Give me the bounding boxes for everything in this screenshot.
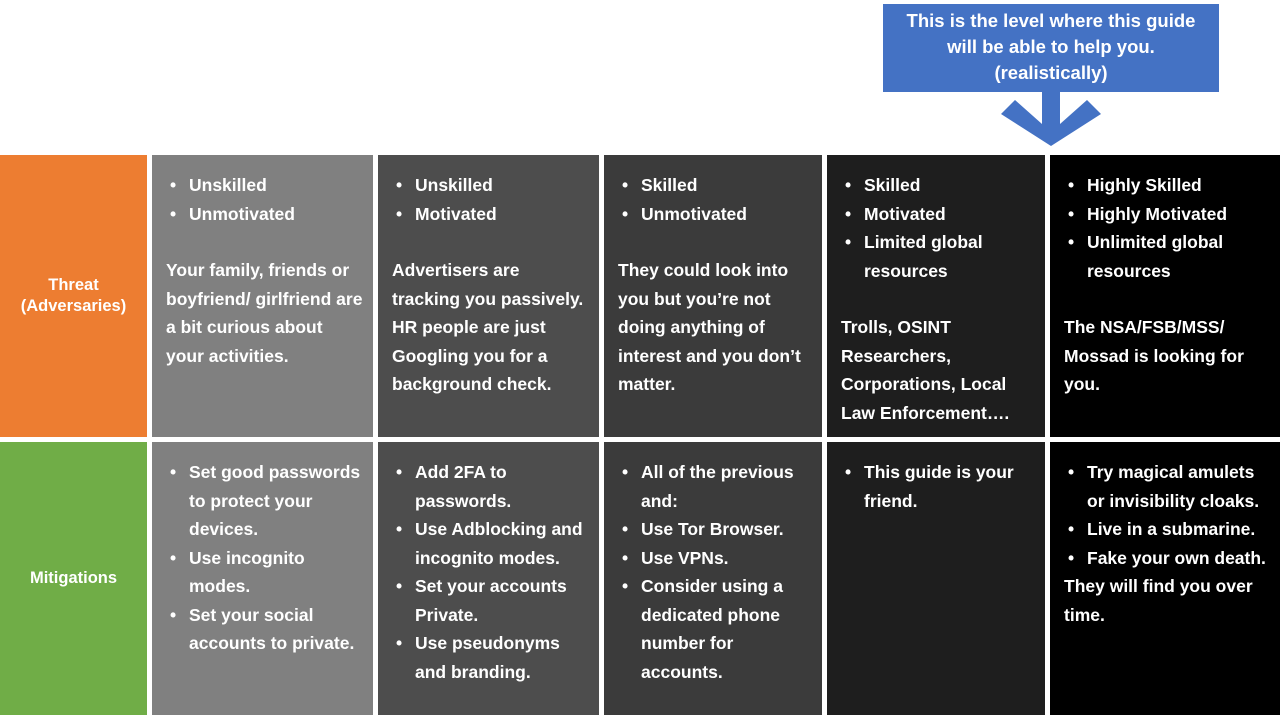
cell-mitigations-col2: Add 2FA to passwords. Use Adblocking and… — [378, 442, 599, 715]
callout-annotation: This is the level where this guide will … — [883, 4, 1219, 146]
bullet-list: Unskilled Unmotivated — [162, 171, 363, 228]
list-item: Skilled — [837, 171, 1035, 200]
list-item: Unskilled — [162, 171, 363, 200]
list-item: Motivated — [837, 200, 1035, 229]
list-item: Use Tor Browser. — [614, 515, 812, 544]
row-header-mitigations-label: Mitigations — [30, 568, 117, 589]
list-item: Unmotivated — [162, 200, 363, 229]
bullet-list: Set good passwords to protect your devic… — [162, 458, 363, 658]
bullet-list: Highly Skilled Highly Motivated Unlimite… — [1060, 171, 1270, 285]
cell-paragraph: They will find you over time. — [1060, 572, 1270, 629]
bullet-list: Try magical amulets or invisibility cloa… — [1060, 458, 1270, 572]
callout-box: This is the level where this guide will … — [883, 4, 1219, 92]
callout-line-1: This is the level where this guide — [907, 8, 1196, 34]
list-item: Highly Motivated — [1060, 200, 1270, 229]
list-item: Unskilled — [388, 171, 589, 200]
callout-line-3: (realistically) — [994, 60, 1107, 86]
bullet-list: This guide is your friend. — [837, 458, 1035, 515]
list-item: Limited global resources — [837, 228, 1035, 285]
cell-threat-col4: Skilled Motivated Limited global resourc… — [827, 155, 1045, 437]
list-item: Skilled — [614, 171, 812, 200]
cell-threat-col3: Skilled Unmotivated They could look into… — [604, 155, 822, 437]
list-item: Set your accounts Private. — [388, 572, 589, 629]
list-item: Live in a submarine. — [1060, 515, 1270, 544]
cell-paragraph: The NSA/FSB/MSS/ Mossad is looking for y… — [1060, 313, 1270, 399]
list-item: Unmotivated — [614, 200, 812, 229]
list-item: All of the previous and: — [614, 458, 812, 515]
cell-paragraph: Your family, friends or boyfriend/ girlf… — [162, 256, 363, 370]
list-item: Use Adblocking and incognito modes. — [388, 515, 589, 572]
cell-threat-col2: Unskilled Motivated Advertisers are trac… — [378, 155, 599, 437]
list-item: Motivated — [388, 200, 589, 229]
list-item: Add 2FA to passwords. — [388, 458, 589, 515]
cell-mitigations-col4: This guide is your friend. — [827, 442, 1045, 715]
cell-mitigations-col3: All of the previous and: Use Tor Browser… — [604, 442, 822, 715]
list-item: Unlimited global resources — [1060, 228, 1270, 285]
bullet-list: Skilled Unmotivated — [614, 171, 812, 228]
list-item: Use pseudonyms and branding. — [388, 629, 589, 686]
list-item: Highly Skilled — [1060, 171, 1270, 200]
list-item: Use VPNs. — [614, 544, 812, 573]
cell-mitigations-col1: Set good passwords to protect your devic… — [152, 442, 373, 715]
list-item: This guide is your friend. — [837, 458, 1035, 515]
cell-threat-col1: Unskilled Unmotivated Your family, frien… — [152, 155, 373, 437]
callout-line-2: will be able to help you. — [947, 34, 1155, 60]
list-item: Consider using a dedicated phone number … — [614, 572, 812, 686]
bullet-list: Skilled Motivated Limited global resourc… — [837, 171, 1035, 285]
bullet-list: All of the previous and: Use Tor Browser… — [614, 458, 812, 686]
bullet-list: Unskilled Motivated — [388, 171, 589, 228]
list-item: Set your social accounts to private. — [162, 601, 363, 658]
list-item: Use incognito modes. — [162, 544, 363, 601]
cell-mitigations-col5: Try magical amulets or invisibility cloa… — [1050, 442, 1280, 715]
row-header-threat: Threat (Adversaries) — [0, 155, 147, 437]
row-header-threat-line1: Threat — [21, 275, 126, 296]
list-item: Fake your own death. — [1060, 544, 1270, 573]
cell-threat-col5: Highly Skilled Highly Motivated Unlimite… — [1050, 155, 1280, 437]
list-item: Try magical amulets or invisibility cloa… — [1060, 458, 1270, 515]
row-header-mitigations: Mitigations — [0, 442, 147, 715]
cell-paragraph: Trolls, OSINT Researchers, Corporations,… — [837, 313, 1035, 427]
down-arrow-icon — [883, 92, 1219, 146]
list-item: Set good passwords to protect your devic… — [162, 458, 363, 544]
cell-paragraph: They could look into you but you’re not … — [614, 256, 812, 399]
threat-model-matrix: Threat (Adversaries) Unskilled Unmotivat… — [0, 155, 1280, 715]
bullet-list: Add 2FA to passwords. Use Adblocking and… — [388, 458, 589, 686]
row-header-threat-line2: (Adversaries) — [21, 296, 126, 317]
cell-paragraph: Advertisers are tracking you passively. … — [388, 256, 589, 399]
